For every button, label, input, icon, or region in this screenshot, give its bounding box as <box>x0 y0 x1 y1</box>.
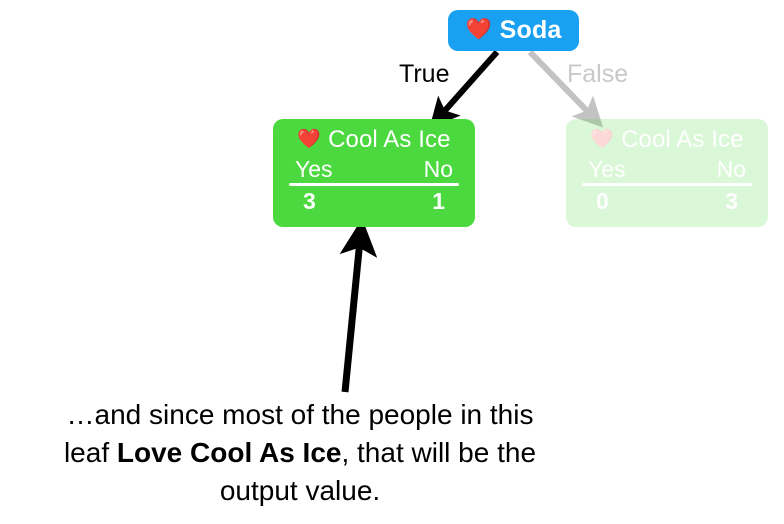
tree-leaf-right-table: Yes No 0 3 <box>580 157 754 213</box>
cell-no-count: 3 <box>717 189 746 213</box>
caption-line-2: leaf Love Cool As Ice, that will be the <box>0 434 600 472</box>
caption-text: …and since most of the people in this le… <box>0 396 600 510</box>
tree-leaf-left[interactable]: ❤️ Cool As Ice Yes No 3 1 <box>273 119 475 227</box>
arrow-callout <box>345 240 360 392</box>
caption-line-2-bold: Love Cool As Ice <box>117 437 342 468</box>
tree-leaf-left-table: Yes No 3 1 <box>287 157 461 213</box>
column-header-no: No <box>424 157 453 181</box>
column-header-no: No <box>717 157 746 181</box>
tree-leaf-left-title: Cool As Ice <box>328 128 451 152</box>
tree-leaf-left-header: ❤️ Cool As Ice <box>287 124 461 156</box>
tree-leaf-right[interactable]: ❤️ Cool As Ice Yes No 0 3 <box>566 119 768 227</box>
heart-icon: ❤️ <box>465 19 491 40</box>
heart-icon: ❤️ <box>297 130 321 149</box>
slide-canvas: ❤️ Soda True False ❤️ Cool As Ice Yes No… <box>0 0 784 524</box>
cell-no-count: 1 <box>424 189 453 213</box>
cell-yes-count: 0 <box>588 189 617 213</box>
table-header-row: Yes No <box>287 157 461 181</box>
table-row: 0 3 <box>580 189 754 213</box>
column-header-yes: Yes <box>295 157 333 181</box>
tree-leaf-right-title: Cool As Ice <box>621 128 744 152</box>
table-row: 3 1 <box>287 189 461 213</box>
tree-node-soda[interactable]: ❤️ Soda <box>448 10 579 51</box>
table-header-row: Yes No <box>580 157 754 181</box>
edge-label-true: True <box>399 62 449 87</box>
edge-label-false: False <box>567 62 628 87</box>
tree-leaf-right-header: ❤️ Cool As Ice <box>580 124 754 156</box>
table-divider <box>289 183 459 186</box>
heart-icon: ❤️ <box>590 130 614 149</box>
column-header-yes: Yes <box>588 157 626 181</box>
caption-line-2-prefix: leaf <box>64 437 117 468</box>
caption-line-3: output value. <box>0 472 600 510</box>
table-divider <box>582 183 752 186</box>
caption-line-1: …and since most of the people in this <box>0 396 600 434</box>
tree-node-soda-label: Soda <box>500 18 562 43</box>
caption-line-2-suffix: , that will be the <box>341 437 536 468</box>
cell-yes-count: 3 <box>295 189 324 213</box>
